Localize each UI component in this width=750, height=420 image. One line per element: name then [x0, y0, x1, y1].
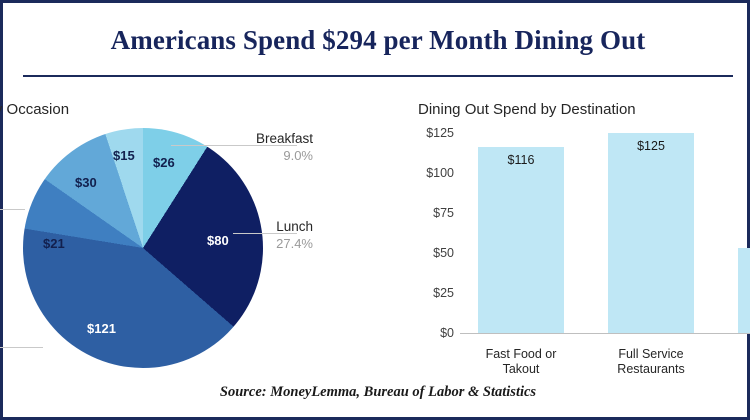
y-tick-75: $75: [433, 206, 454, 220]
bar-chart: $125 $100 $75 $50 $25 $0 $116 $125 Fast …: [418, 125, 750, 385]
y-tick-100: $100: [426, 166, 454, 180]
callout-breakfast-percent: 9.0%: [203, 148, 313, 164]
y-tick-25: $25: [433, 286, 454, 300]
bar-plot-area: $125 $100 $75 $50 $25 $0 $116 $125 Fast …: [460, 133, 750, 333]
pie-slice-label-drinks: $30: [75, 175, 97, 190]
pie-slice-label-snacks: $21: [43, 236, 65, 251]
y-tick-50: $50: [433, 246, 454, 260]
bar-fast-food: $116: [478, 147, 564, 333]
page-title: Americans Spend $294 per Month Dining Ou…: [3, 25, 750, 56]
source-note: Source: MoneyLemma, Bureau of Labor & St…: [3, 384, 750, 401]
bar-chart-subtitle: Dining Out Spend by Destination: [418, 101, 636, 118]
callout-breakfast-label: Breakfast: [203, 131, 313, 148]
y-tick-125: $125: [426, 126, 454, 140]
y-tick-0: $0: [440, 326, 454, 340]
callout-lunch-percent: 27.4%: [203, 236, 313, 252]
title-divider: [23, 75, 733, 77]
pie-slice-label-dinner: $121: [87, 321, 116, 336]
pie-chart: $26 $80 $121 $21 $30 $15 Breakfast 9.0% …: [0, 123, 383, 373]
bar-axis-line: [460, 333, 750, 334]
bar-category-full-service: Full ServiceRestaurants: [596, 347, 706, 377]
bar-third-clipped: [738, 248, 750, 333]
callout-leader-dinner: [0, 347, 43, 348]
pie-chart-subtitle: Spend by Occasion: [0, 101, 359, 118]
bar-value-fast-food: $116: [478, 153, 564, 167]
bar-category-fast-food: Fast Food orTakout: [466, 347, 576, 377]
callout-lunch-label: Lunch: [203, 219, 313, 236]
chart-frame: Americans Spend $294 per Month Dining Ou…: [0, 0, 750, 420]
pie-slice-label-catering: $15: [113, 148, 135, 163]
callout-breakfast: Breakfast 9.0%: [203, 131, 313, 164]
bar-value-full-service: $125: [608, 139, 694, 153]
bar-full-service: $125: [608, 133, 694, 333]
callout-leader-clipped: [0, 209, 25, 210]
pie-slice-label-breakfast: $26: [153, 155, 175, 170]
callout-lunch: Lunch 27.4%: [203, 219, 313, 252]
